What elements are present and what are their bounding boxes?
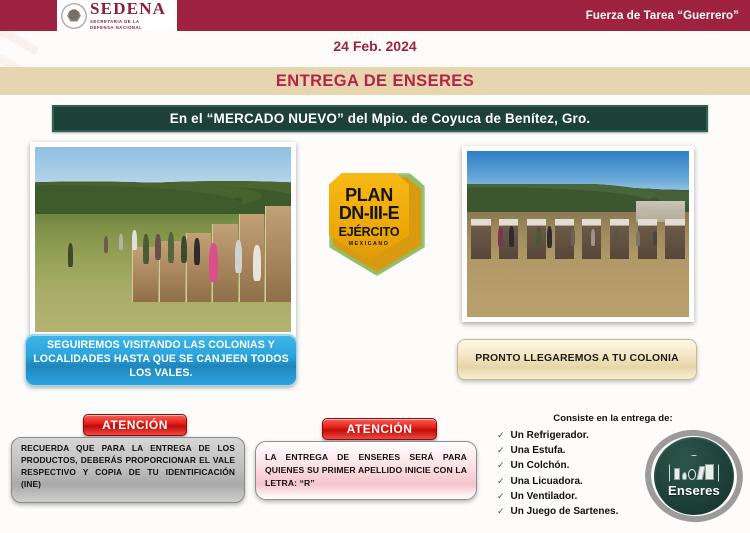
people-group bbox=[35, 147, 291, 332]
photo-right-image bbox=[467, 151, 689, 317]
list-item-label: Un Colchón. bbox=[511, 458, 570, 473]
org-name: SEDENA bbox=[90, 0, 166, 17]
emblem-line-3: EJÉRCITO bbox=[339, 223, 400, 242]
attention-badge-1-label: ATENCIÓN bbox=[102, 418, 168, 432]
badge-disc: Enseres bbox=[654, 437, 734, 515]
enseres-badge: Enseres bbox=[645, 430, 743, 522]
blue-caption-text: SEGUIREMOS VISITANDO LAS COLONIAS Y LOCA… bbox=[32, 339, 290, 381]
cream-caption-text: PRONTO LLEGAREMOS A TU COLONIA bbox=[475, 352, 679, 366]
notice-box-surname-letter: LA ENTREGA DE ENSERES SERÁ PARA QUIENES … bbox=[255, 441, 477, 500]
photo-right-boxes-row bbox=[462, 146, 694, 322]
banner-title: ENTREGA DE ENSERES bbox=[276, 72, 474, 91]
check-mark-icon: ✓ bbox=[497, 444, 505, 458]
photo-left-delivery-line bbox=[30, 142, 296, 337]
check-mark-icon: ✓ bbox=[497, 459, 505, 473]
emblem-line-1: PLAN bbox=[345, 186, 393, 204]
emblem-line-4: MEXICANO bbox=[349, 242, 390, 247]
list-item: ✓Un Ventilador. bbox=[497, 489, 618, 504]
items-list: ✓Un Refrigerador. ✓Una Estufa. ✓Un Colch… bbox=[497, 428, 618, 519]
list-item: ✓Una Estufa. bbox=[497, 443, 618, 458]
check-mark-icon: ✓ bbox=[497, 490, 505, 504]
check-mark-icon: ✓ bbox=[497, 475, 505, 489]
task-force-title: Fuerza de Tarea “Guerrero” bbox=[586, 0, 739, 31]
list-item: ✓Una Licuadora. bbox=[497, 474, 618, 489]
mexican-eagle-seal-icon bbox=[61, 3, 87, 29]
attention-badge-2-label: ATENCIÓN bbox=[347, 422, 413, 436]
cream-caption-box: PRONTO LLEGAREMOS A TU COLONIA bbox=[457, 339, 697, 380]
emblem-line-2: DN-III-E bbox=[339, 204, 399, 223]
list-item-label: Un Juego de Sartenes. bbox=[511, 504, 619, 519]
notice-box-documents-text: RECUERDA QUE PARA LA ENTREGA DE LOS PROD… bbox=[21, 443, 235, 491]
items-list-title: Consiste en la entrega de: bbox=[498, 413, 728, 424]
list-item: ✓Un Juego de Sartenes. bbox=[497, 504, 618, 519]
list-item: ✓Un Colchón. bbox=[497, 458, 618, 473]
badge-label: Enseres bbox=[668, 483, 720, 498]
notice-box-documents: RECUERDA QUE PARA LA ENTREGA DE LOS PROD… bbox=[11, 437, 245, 503]
house-appliances-icon bbox=[669, 455, 719, 482]
notice-box-surname-letter-text: LA ENTREGA DE ENSERES SERÁ PARA QUIENES … bbox=[265, 451, 467, 490]
list-item-label: Un Ventilador. bbox=[511, 489, 578, 504]
check-mark-icon: ✓ bbox=[497, 505, 505, 519]
slide-canvas: SEDENA SECRETARIA DE LADEFENSA NACIONAL … bbox=[0, 0, 750, 533]
banner-band: ENTREGA DE ENSERES bbox=[0, 67, 750, 95]
plan-dn3e-emblem: PLAN DN-III-E EJÉRCITO MEXICANO bbox=[329, 173, 425, 276]
people-queue bbox=[467, 151, 689, 317]
photo-left-image bbox=[35, 147, 291, 332]
list-item-label: Una Licuadora. bbox=[511, 474, 583, 489]
list-item: ✓Un Refrigerador. bbox=[497, 428, 618, 443]
appliance-glyphs bbox=[674, 464, 714, 480]
location-text: En el “MERCADO NUEVO” del Mpio. de Coyuc… bbox=[170, 111, 591, 126]
location-bar: En el “MERCADO NUEVO” del Mpio. de Coyuc… bbox=[52, 105, 708, 132]
blue-caption-box: SEGUIREMOS VISITANDO LAS COLONIAS Y LOCA… bbox=[25, 334, 297, 386]
check-mark-icon: ✓ bbox=[497, 429, 505, 443]
list-item-label: Una Estufa. bbox=[511, 443, 566, 458]
org-subtitle: SECRETARIA DE LADEFENSA NACIONAL bbox=[90, 19, 166, 31]
date-label: 24 Feb. 2024 bbox=[0, 38, 750, 54]
attention-badge-2: ATENCIÓN bbox=[322, 418, 437, 440]
list-item-label: Un Refrigerador. bbox=[511, 428, 589, 443]
sedena-logo: SEDENA SECRETARIA DE LADEFENSA NACIONAL bbox=[57, 0, 177, 31]
top-header-bar: SEDENA SECRETARIA DE LADEFENSA NACIONAL … bbox=[0, 0, 750, 31]
attention-badge-1: ATENCIÓN bbox=[83, 414, 187, 436]
